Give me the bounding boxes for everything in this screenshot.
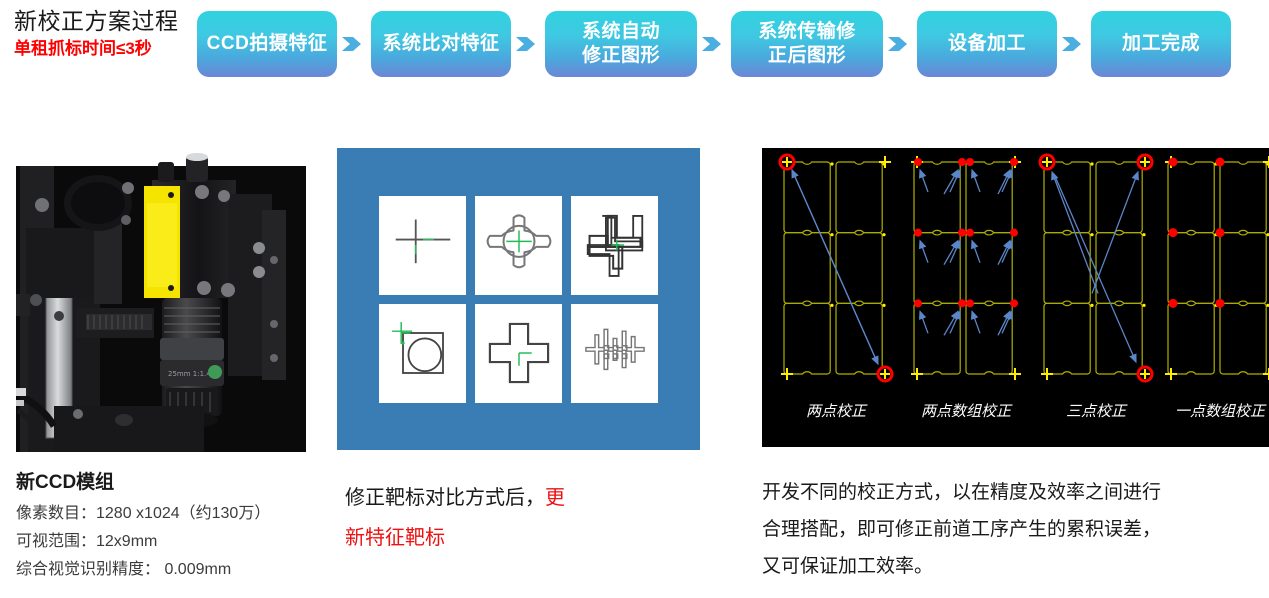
caption-right-line2: 合理搭配，即可修正前道工序产生的累积误差， (762, 511, 1262, 548)
ccd-module-heading: 新CCD模组 (16, 470, 336, 496)
flow-arrow-icon (697, 34, 731, 54)
thin-cross-mark (383, 201, 463, 289)
flow-arrow-icon (883, 34, 917, 54)
calibration-diagram-label: 三点校正 (1066, 403, 1128, 420)
spec-view-range: 可视范围：12x9mm (16, 528, 336, 556)
flow-step-6[interactable]: 加工完成 (1091, 11, 1231, 77)
flow-step-label: 系统传输修正后图形 (758, 20, 856, 68)
content-panels: 25mm 1:1.4 (0, 148, 1269, 456)
svg-text:25mm 1:1.4: 25mm 1:1.4 (168, 370, 211, 378)
flow-step-5[interactable]: 设备加工 (917, 11, 1057, 77)
caption-right: 开发不同的校正方式，以在精度及效率之间进行 合理搭配，即可修正前道工序产生的累积… (762, 474, 1262, 585)
calibration-diagram-label: 一点数组校正 (1175, 403, 1267, 420)
caption-right-line1: 开发不同的校正方式，以在精度及效率之间进行 (762, 474, 1262, 511)
calibration-diagram-4: 一点数组校正 (1165, 156, 1269, 420)
caption-left: 新CCD模组 像素数目：1280 x1024（约130万） 可视范围：12x9m… (16, 470, 336, 584)
target-mark-cell-5 (475, 304, 562, 403)
flow-arrow-icon (511, 34, 545, 54)
comb-grid-mark (575, 309, 655, 397)
flow-step-3[interactable]: 系统自动修正图形 (545, 11, 697, 77)
flow-step-label: 设备加工 (948, 32, 1026, 56)
flow-step-1[interactable]: CCD拍摄特征 (197, 11, 337, 77)
target-mark-cell-2 (475, 196, 562, 295)
caption-middle-line2: 新特征靶标 (345, 518, 695, 558)
target-marks-grid (379, 196, 658, 403)
target-marks-panel (337, 148, 700, 450)
calibration-diagrams-panel: 两点校正两点数组校正三点校正一点数组校正 (762, 148, 1269, 447)
page-title: 新校正方案过程 (14, 6, 199, 36)
calibration-diagram-label: 两点数组校正 (921, 403, 1013, 420)
flow-arrow-icon (1057, 34, 1091, 54)
caption-right-line3: 又可保证加工效率。 (762, 548, 1262, 585)
offset-cross-mark (575, 201, 655, 289)
circle-in-square-mark (383, 309, 463, 397)
flow-arrow-icon (337, 34, 371, 54)
flow-step-label: 系统比对特征 (382, 32, 499, 56)
header-title-block: 新校正方案过程 单租抓标时间≤3秒 (14, 6, 199, 61)
circle-cross-mark (479, 201, 559, 289)
flow-step-4[interactable]: 系统传输修正后图形 (731, 11, 883, 77)
calibration-diagram-label: 两点校正 (806, 403, 868, 420)
page-root: 新校正方案过程 单租抓标时间≤3秒 CCD拍摄特征系统比对特征系统自动修正图形系… (0, 0, 1269, 598)
page-subtitle: 单租抓标时间≤3秒 (14, 37, 199, 61)
spec-pixels: 像素数目：1280 x1024（约130万） (16, 500, 336, 528)
calibration-diagram-1: 两点校正 (780, 155, 892, 420)
flow-step-label: CCD拍摄特征 (207, 32, 328, 56)
process-flow: CCD拍摄特征系统比对特征系统自动修正图形系统传输修正后图形设备加工加工完成 (197, 8, 1231, 80)
solid-cross-mark (479, 309, 559, 397)
caption-middle: 修正靶标对比方式后，更 新特征靶标 (345, 478, 695, 558)
caption-middle-line1: 修正靶标对比方式后，更 (345, 478, 695, 518)
target-mark-cell-1 (379, 196, 466, 295)
spec-accuracy: 综合视觉识别精度： 0.009mm (16, 556, 336, 584)
target-mark-cell-4 (379, 304, 466, 403)
target-mark-cell-3 (571, 196, 658, 295)
caption-middle-line1-red: 更 (545, 487, 565, 509)
ccd-module-photo: 25mm 1:1.4 (16, 148, 306, 452)
calibration-diagram-2: 两点数组校正 (911, 156, 1021, 420)
caption-middle-line1-black: 修正靶标对比方式后， (345, 487, 545, 509)
flow-step-2[interactable]: 系统比对特征 (371, 11, 511, 77)
flow-step-label: 系统自动修正图形 (582, 20, 660, 68)
flow-step-label: 加工完成 (1122, 32, 1200, 56)
target-mark-cell-6 (571, 304, 658, 403)
calibration-diagram-3: 三点校正 (1040, 155, 1152, 420)
